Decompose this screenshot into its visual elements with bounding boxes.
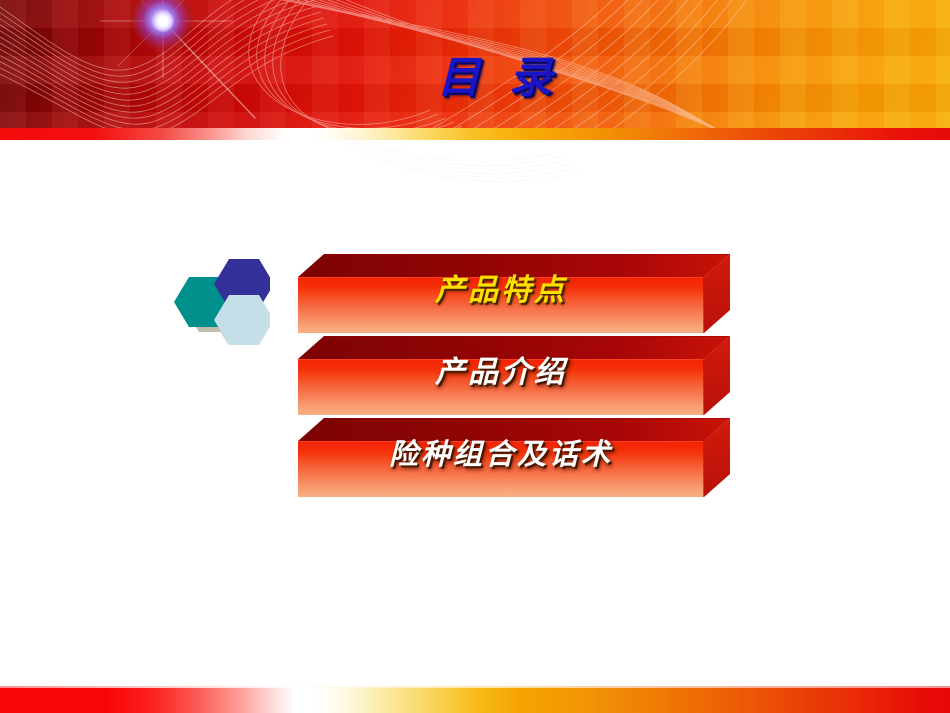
body-swirl-echo-icon <box>330 132 670 204</box>
beveled-box-shape <box>298 417 730 501</box>
presentation-slide: 目 录 <box>0 0 950 713</box>
beveled-box-shape <box>298 335 730 419</box>
page-title: 目 录 <box>398 57 598 100</box>
menu-item-product-introduction[interactable]: 产品介绍 <box>298 335 730 419</box>
menu-item-insurance-combination-and-script[interactable]: 险种组合及话术 <box>298 417 730 501</box>
hexagon-cluster-icon <box>166 256 270 356</box>
beveled-box-shape <box>298 253 730 337</box>
menu-item-product-features[interactable]: 产品特点 <box>298 253 730 337</box>
light-flare-core-icon <box>152 10 174 32</box>
slide-footer-bar <box>0 688 950 713</box>
